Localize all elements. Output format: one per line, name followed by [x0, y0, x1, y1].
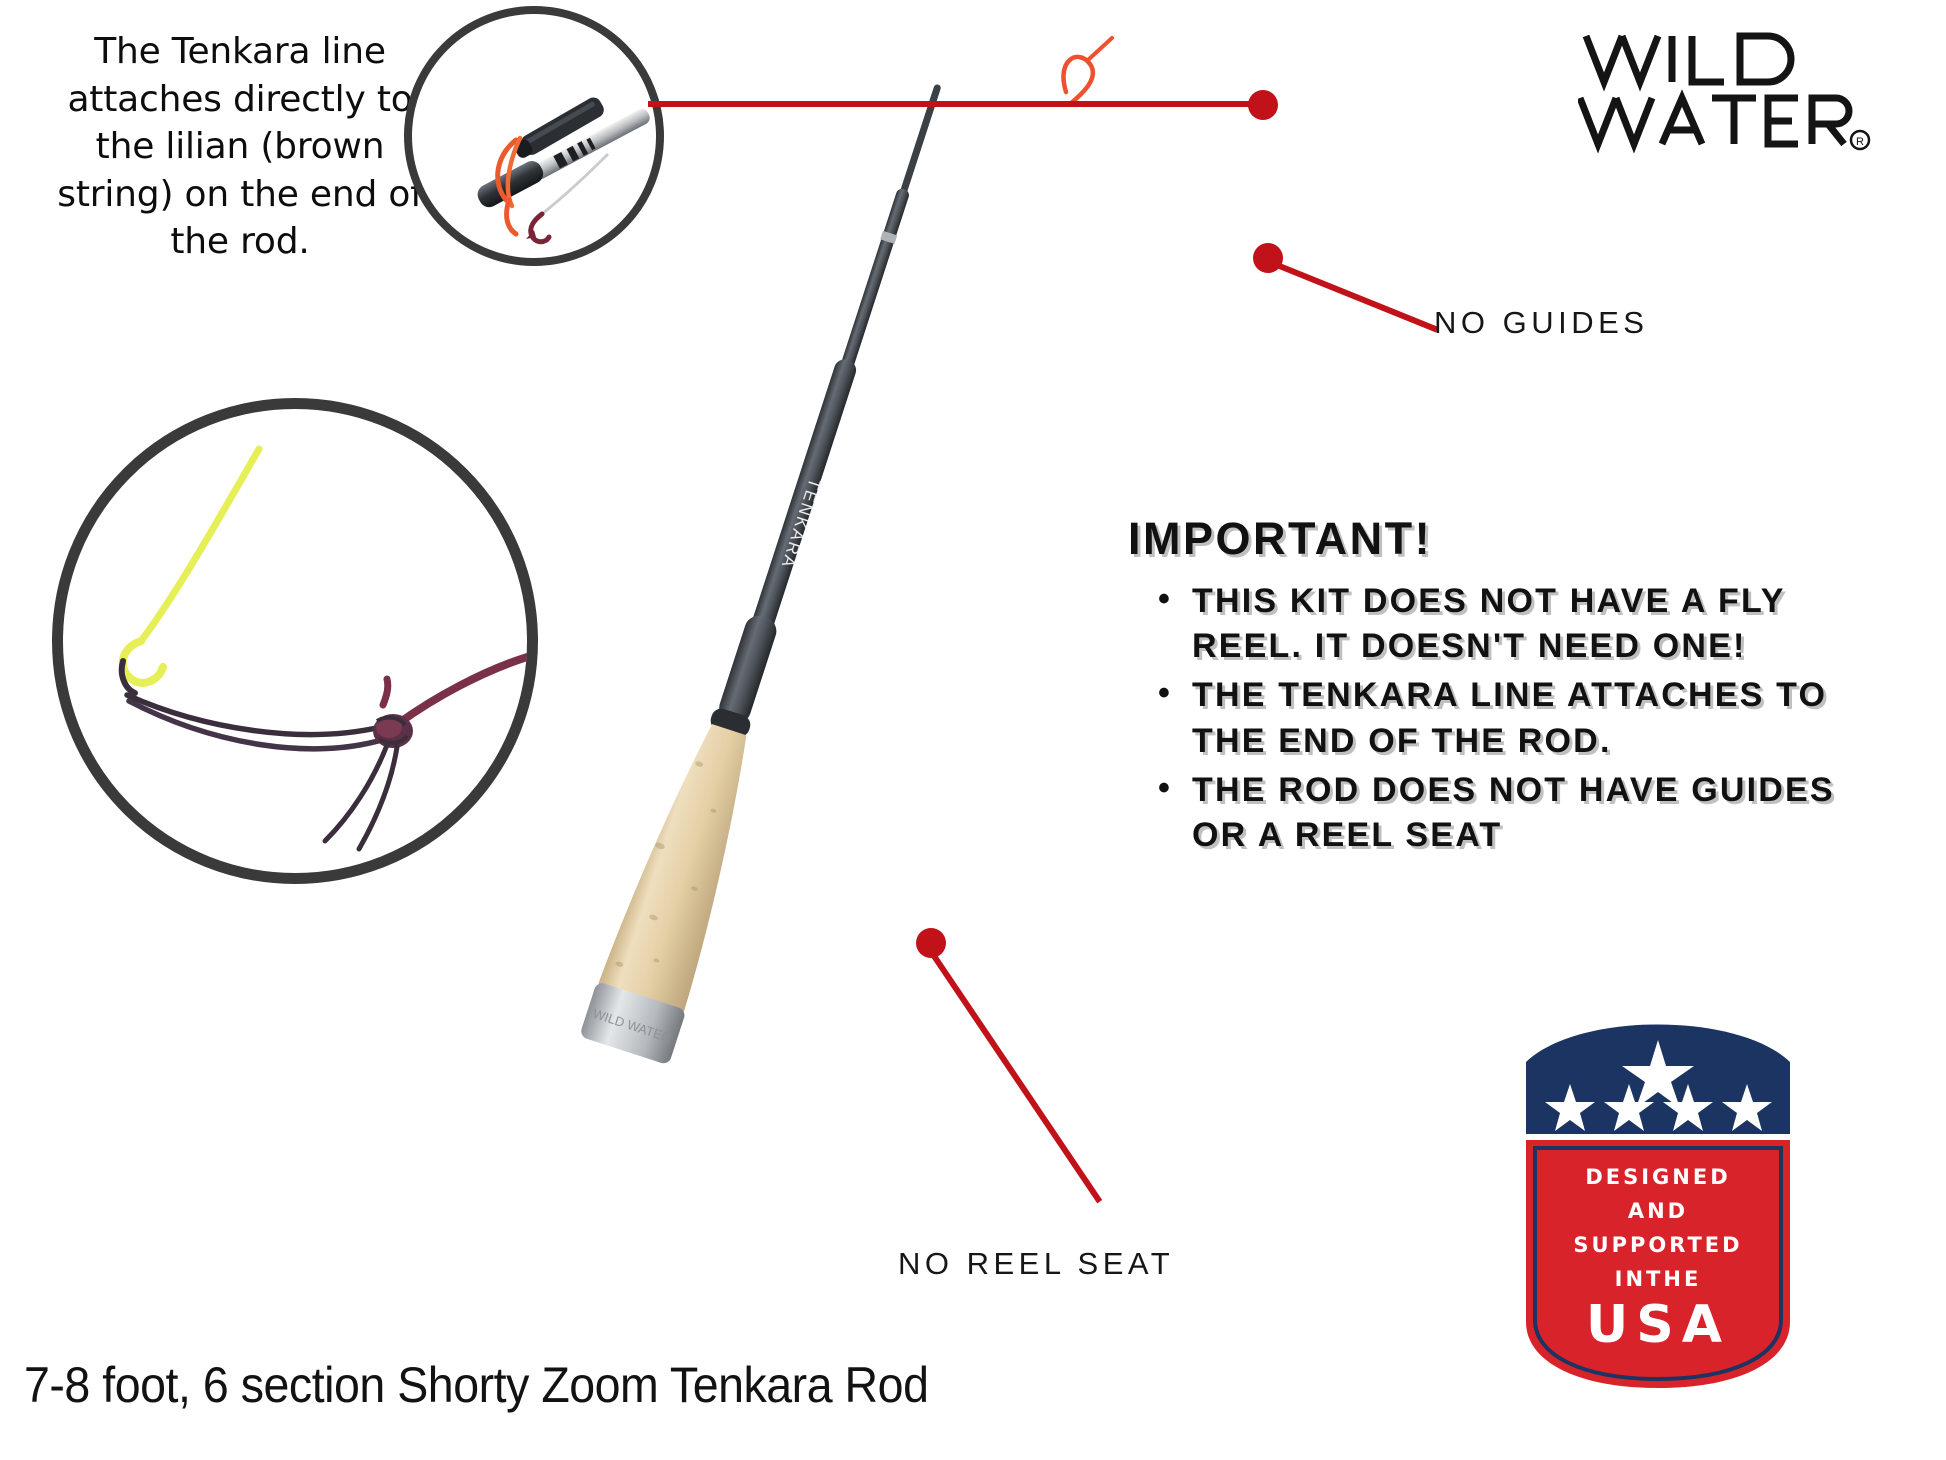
important-title: IMPORTANT!: [1128, 513, 1928, 565]
important-bullet: THE ROD DOES NOT HAVE GUIDES OR A REEL S…: [1158, 768, 1888, 858]
leader-dot-tip: [1248, 90, 1278, 120]
designed-in-usa-badge: DESIGNED AND SUPPORTED INTHE USA: [1508, 1022, 1808, 1394]
tenkara-rod-illustration: TENKARA WILD WAT: [430, 20, 1130, 1140]
badge-line-supported: SUPPORTED: [1573, 1233, 1742, 1257]
wild-water-logo: R: [1578, 24, 1908, 169]
important-bullet: THIS KIT DOES NOT HAVE A FLY REEL. IT DO…: [1158, 579, 1888, 669]
intro-paragraph: The Tenkara line attaches directly to th…: [40, 28, 440, 266]
badge-line-and: AND: [1628, 1199, 1688, 1223]
infographic-canvas: The Tenkara line attaches directly to th…: [0, 0, 1946, 1460]
callout-label-no-reel-seat: NO REEL SEAT: [898, 1246, 1174, 1282]
important-bullet-list: THIS KIT DOES NOT HAVE A FLY REEL. IT DO…: [1128, 579, 1928, 858]
leader-line-tip: [648, 101, 1268, 107]
important-notice: IMPORTANT! THIS KIT DOES NOT HAVE A FLY …: [1128, 513, 1928, 862]
badge-line-usa: USA: [1586, 1295, 1730, 1355]
important-bullet: THE TENKARA LINE ATTACHES TO THE END OF …: [1158, 673, 1888, 763]
registered-trademark-icon: R: [1851, 131, 1869, 149]
product-caption: 7-8 foot, 6 section Shorty Zoom Tenkara …: [24, 1356, 928, 1414]
usa-badge-graphic: DESIGNED AND SUPPORTED INTHE USA: [1508, 1022, 1808, 1394]
leader-line-no-guides: [1271, 260, 1438, 332]
svg-text:R: R: [1856, 136, 1864, 148]
rod-product-photo: TENKARA WILD WAT: [430, 20, 1090, 1100]
brand-wordmark: R: [1578, 24, 1908, 164]
badge-line-designed: DESIGNED: [1585, 1165, 1730, 1189]
lilian-string: [1063, 57, 1092, 104]
callout-label-no-guides: NO GUIDES: [1434, 305, 1648, 341]
badge-line-inthe: INTHE: [1615, 1267, 1702, 1291]
